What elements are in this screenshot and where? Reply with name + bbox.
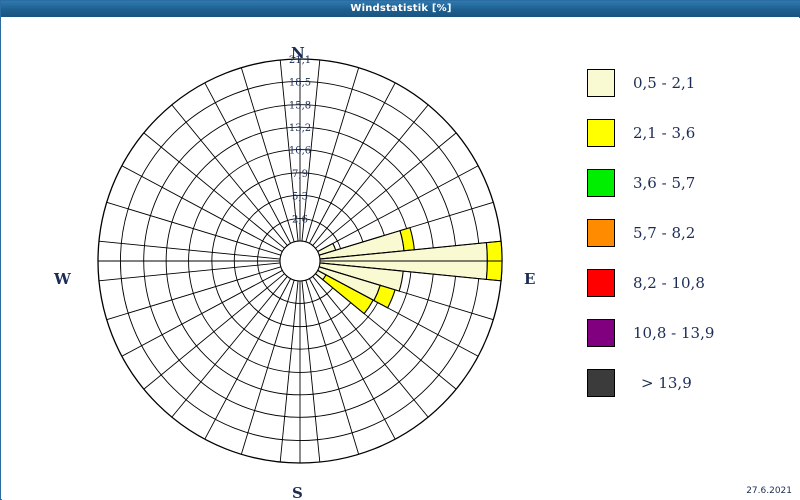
legend-label: 10,8 - 13,9 [633, 324, 714, 342]
legend-label: 2,1 - 3,6 [633, 124, 695, 142]
compass-label-east: E [524, 270, 535, 288]
radial-tick-label: 5,3 [292, 191, 308, 202]
legend-swatch-2 [587, 169, 615, 197]
legend-row: 3,6 - 5,7 [587, 158, 787, 208]
calm-circle [280, 241, 320, 281]
radial-tick-label: 7,9 [292, 169, 308, 180]
compass-label-west: W [54, 270, 71, 288]
legend-label: 8,2 - 10,8 [633, 274, 705, 292]
calm-circle-shape [280, 241, 320, 281]
wind-rose-sectors [315, 228, 502, 314]
radial-tick-label: 13,2 [289, 123, 311, 134]
radial-tick-label: 10,6 [289, 146, 311, 157]
legend-row: 8,2 - 10,8 [587, 258, 787, 308]
radial-tick-label: 15,8 [289, 101, 311, 112]
radial-tick-label: 18,5 [289, 77, 311, 88]
legend-swatch-3 [587, 219, 615, 247]
window-title-text: Windstatistik [%] [350, 3, 451, 14]
legend-row: 10,8 - 13,9 [587, 308, 787, 358]
compass-label-south: S [292, 484, 303, 500]
wind-rose-plot-area: 2,65,37,910,613,215,818,521,1 N S W E 0,… [2, 18, 800, 500]
legend-row: > 13,9 [587, 358, 787, 408]
legend-label: 0,5 - 2,1 [633, 74, 695, 92]
legend-swatch-6 [587, 369, 615, 397]
legend-swatch-1 [587, 119, 615, 147]
windstatistik-window: Windstatistik [%] 2,65,37,910,613,215,81… [0, 0, 800, 500]
legend-label: 3,6 - 5,7 [633, 174, 695, 192]
legend-swatch-5 [587, 319, 615, 347]
window-title-bar: Windstatistik [%] [1, 1, 800, 17]
legend-row: 2,1 - 3,6 [587, 108, 787, 158]
compass-label-north: N [291, 44, 305, 62]
legend-row: 0,5 - 2,1 [587, 58, 787, 108]
legend-swatch-0 [587, 69, 615, 97]
legend-row: 5,7 - 8,2 [587, 208, 787, 258]
speed-bin-legend: 0,5 - 2,12,1 - 3,63,6 - 5,75,7 - 8,28,2 … [587, 58, 787, 408]
legend-label: > 13,9 [641, 374, 692, 392]
legend-swatch-4 [587, 269, 615, 297]
radial-tick-label: 2,6 [292, 215, 308, 226]
chart-date-label: 27.6.2021 [746, 486, 792, 496]
legend-label: 5,7 - 8,2 [633, 224, 695, 242]
